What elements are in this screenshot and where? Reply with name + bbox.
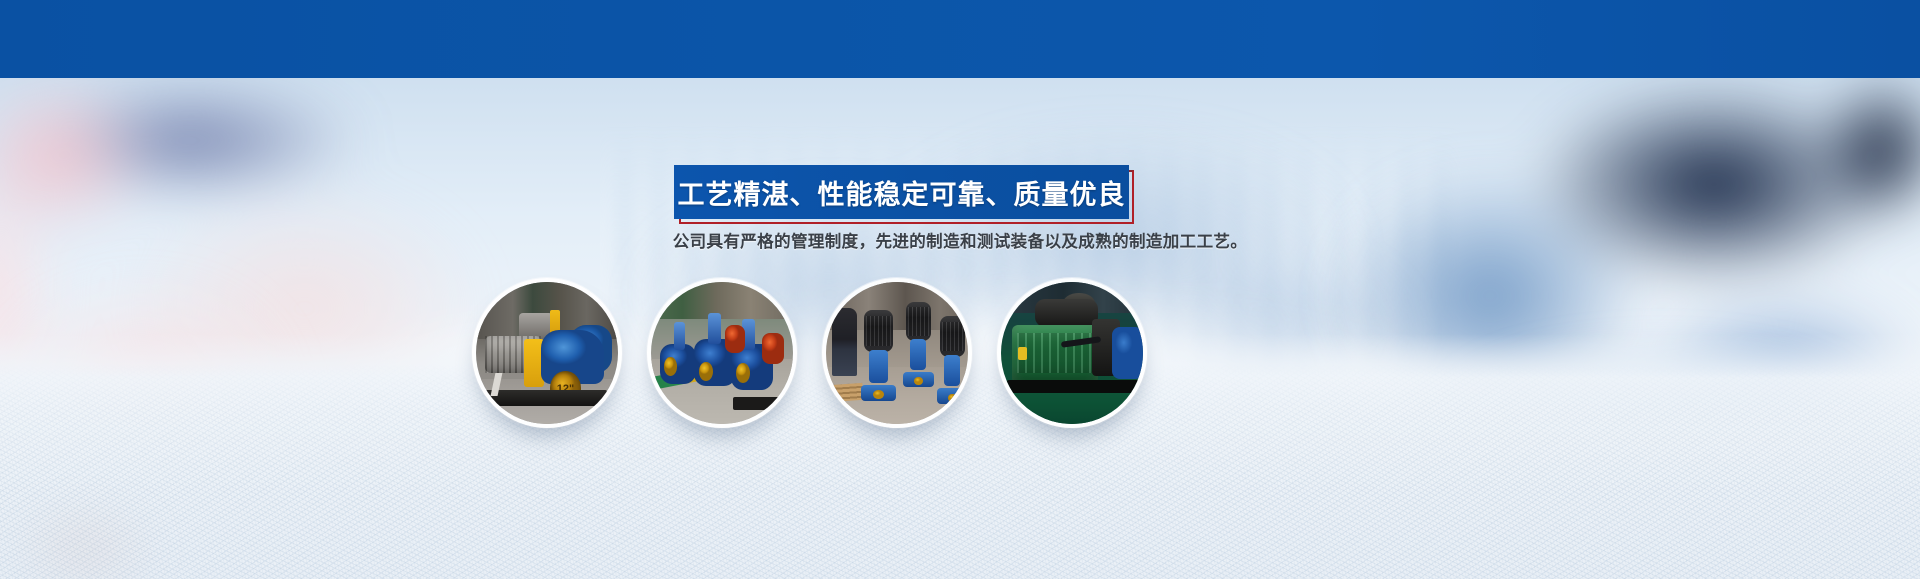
headline-text: 工艺精湛、性能稳定可靠、质量优良 — [678, 173, 1126, 212]
top-blue-bar — [0, 0, 1920, 78]
subtitle: 公司具有严格的管理制度，先进的制造和测试装备以及成熟的制造加工工艺。 — [0, 228, 1920, 252]
banner-stage: 工艺精湛、性能稳定可靠、质量优良 公司具有严格的管理制度，先进的制造和测试装备以… — [0, 0, 1920, 579]
headline-box: 工艺精湛、性能稳定可靠、质量优良 — [674, 165, 1129, 219]
subtitle-text: 公司具有严格的管理制度，先进的制造和测试装备以及成熟的制造加工工艺。 — [673, 233, 1248, 251]
banner-copy: 工艺精湛、性能稳定可靠、质量优良 公司具有严格的管理制度，先进的制造和测试装备以… — [0, 78, 1920, 579]
headline-panel: 工艺精湛、性能稳定可靠、质量优良 — [674, 165, 1129, 219]
